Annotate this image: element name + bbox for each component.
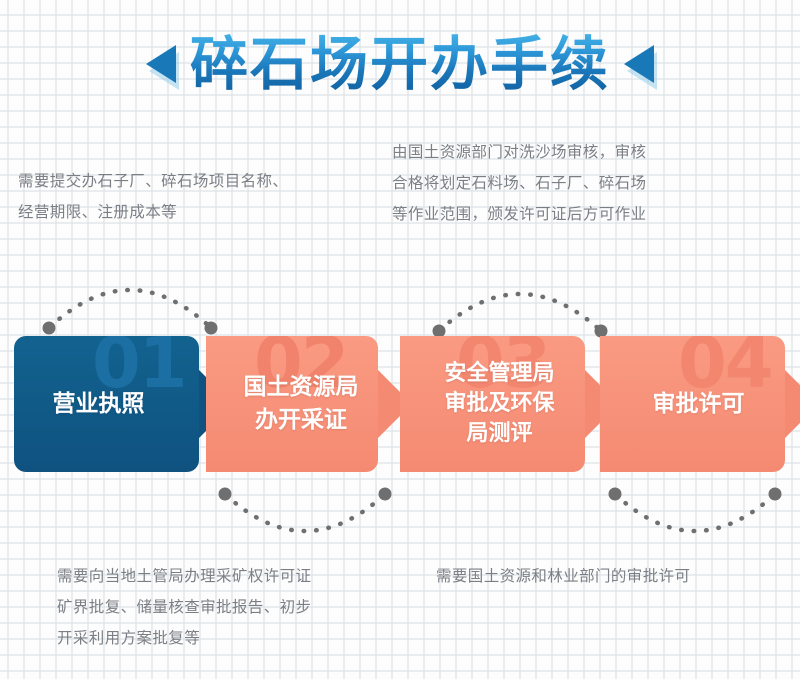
title-area: 碎石场开办手续 碎石场开办手续	[0, 16, 800, 112]
arc-step2-to-bottom-left	[210, 485, 400, 555]
arc-step1-to-top-left	[30, 255, 230, 345]
step-4-arrow	[785, 370, 800, 438]
step-1-label: 营业执照	[45, 388, 153, 421]
description-bottom-right: 需要国土资源和林业部门的审批许可	[436, 561, 788, 592]
left-triangle-icon	[146, 45, 176, 83]
process-step-1[interactable]: 01 营业执照	[14, 336, 199, 472]
right-triangle-icon	[624, 45, 654, 83]
step-2-label: 国土资源局 办开采证	[236, 371, 367, 437]
process-step-band: 01 营业执照 02 国土资源局 办开采证 03 安全管理局 审批及环保 局测评…	[0, 336, 800, 472]
description-top-right: 由国土资源部门对洗沙场审核，审核 合格将划定石料场、石子厂、碎石场 等作业范围，…	[392, 137, 744, 230]
arc-step4-to-bottom-right	[600, 485, 790, 555]
page-title: 碎石场开办手续	[190, 30, 610, 98]
step-4-label: 审批许可	[645, 388, 753, 421]
step-3-label: 安全管理局 审批及环保 局测评	[436, 359, 562, 449]
arc-step3-to-top-right	[420, 264, 620, 346]
description-top-left: 需要提交办石子厂、碎石场项目名称、 经营期限、注册成本等	[18, 166, 378, 228]
process-step-3[interactable]: 03 安全管理局 审批及环保 局测评	[400, 336, 585, 472]
infographic-page: 碎石场开办手续 碎石场开办手续 需要提交办石子厂、碎石场项目名称、 经营期限、注…	[0, 0, 800, 679]
process-step-4[interactable]: 04 审批许可	[600, 336, 785, 472]
process-step-2[interactable]: 02 国土资源局 办开采证	[206, 336, 378, 472]
description-bottom-left: 需要向当地土管局办理采矿权许可证 矿界批复、储量核查审批报告、初步 开采利用方案…	[57, 561, 407, 654]
